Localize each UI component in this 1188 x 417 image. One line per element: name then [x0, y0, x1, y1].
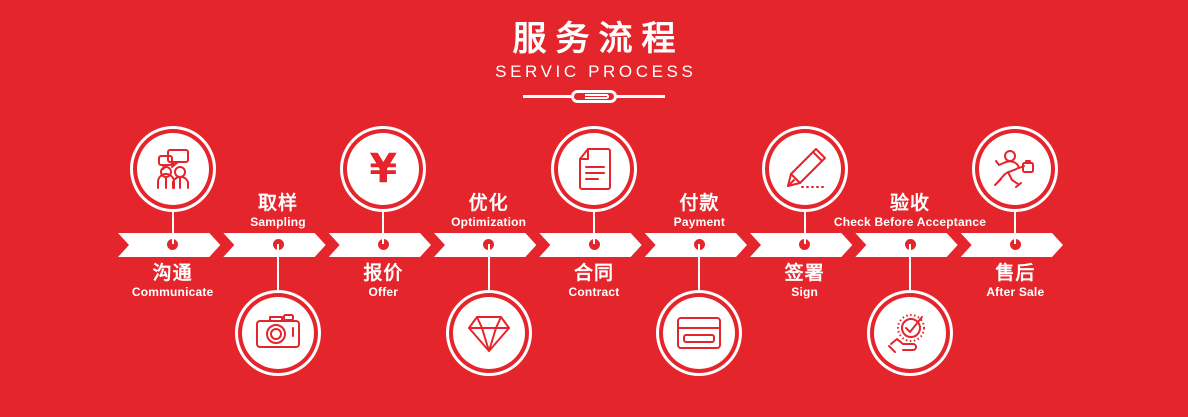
icon-glyph	[663, 297, 735, 369]
divider-line-left	[523, 95, 571, 98]
step-label: 取样Sampling	[250, 192, 306, 230]
document-icon[interactable]	[551, 126, 637, 212]
connector-stem	[593, 212, 595, 244]
step-label: 验收Check Before Acceptance	[834, 192, 986, 230]
icon-glyph	[558, 133, 630, 205]
connector-stem	[488, 244, 490, 290]
step-label-cn: 验收	[834, 192, 986, 215]
icon-glyph	[979, 133, 1051, 205]
step-label-cn: 报价	[363, 262, 403, 285]
step-label-en: After Sale	[986, 285, 1044, 300]
connector-stem	[172, 212, 174, 244]
icon-glyph	[137, 133, 209, 205]
icon-glyph	[453, 297, 525, 369]
icon-glyph	[874, 297, 946, 369]
step-label: 报价Offer	[363, 262, 403, 300]
step-label: 付款Payment	[674, 192, 725, 230]
hand-checkmark-icon[interactable]	[867, 290, 953, 376]
step-label: 沟通Communicate	[132, 262, 214, 300]
service-process-banner: 服务流程 SERVIC PROCESS 沟通Communicate	[0, 0, 1188, 417]
step-label-en: Communicate	[132, 285, 214, 300]
yen-glyph: ¥	[369, 149, 397, 189]
header: 服务流程 SERVIC PROCESS	[0, 18, 1188, 103]
yen-currency-icon[interactable]: ¥	[340, 126, 426, 212]
connector-stem	[909, 244, 911, 290]
step-label-en: Sampling	[250, 215, 306, 230]
connector-stem	[804, 212, 806, 244]
step-label-cn: 合同	[569, 262, 620, 285]
people-chat-icon[interactable]	[130, 126, 216, 212]
page-title-cn: 服务流程	[0, 18, 1188, 60]
diamond-icon[interactable]	[446, 290, 532, 376]
step-label-en: Optimization	[451, 215, 526, 230]
connector-stem	[698, 244, 700, 290]
step-label: 签署Sign	[785, 262, 825, 300]
divider-line-right	[617, 95, 665, 98]
step-label-en: Payment	[674, 215, 725, 230]
step-label: 售后After Sale	[986, 262, 1044, 300]
step-label-cn: 优化	[451, 192, 526, 215]
connector-stem	[277, 244, 279, 290]
step-label-cn: 沟通	[132, 262, 214, 285]
camera-icon[interactable]	[235, 290, 321, 376]
icon-glyph	[242, 297, 314, 369]
paperclip-glyph	[571, 90, 617, 103]
step-label: 优化Optimization	[451, 192, 526, 230]
paperclip-divider-icon	[0, 90, 1188, 103]
credit-card-icon[interactable]	[656, 290, 742, 376]
step-label-cn: 售后	[986, 262, 1044, 285]
connector-stem	[1014, 212, 1016, 244]
page-title-en: SERVIC PROCESS	[0, 61, 1188, 83]
icon-glyph: ¥	[347, 133, 419, 205]
icon-glyph	[769, 133, 841, 205]
step-label-en: Contract	[569, 285, 620, 300]
step-label-cn: 付款	[674, 192, 725, 215]
running-person-briefcase-icon[interactable]	[972, 126, 1058, 212]
step-label-en: Check Before Acceptance	[834, 215, 986, 230]
connector-stem	[382, 212, 384, 244]
step-label-cn: 签署	[785, 262, 825, 285]
step-label-cn: 取样	[250, 192, 306, 215]
step-label-en: Offer	[363, 285, 403, 300]
step-label: 合同Contract	[569, 262, 620, 300]
step-label-en: Sign	[785, 285, 825, 300]
